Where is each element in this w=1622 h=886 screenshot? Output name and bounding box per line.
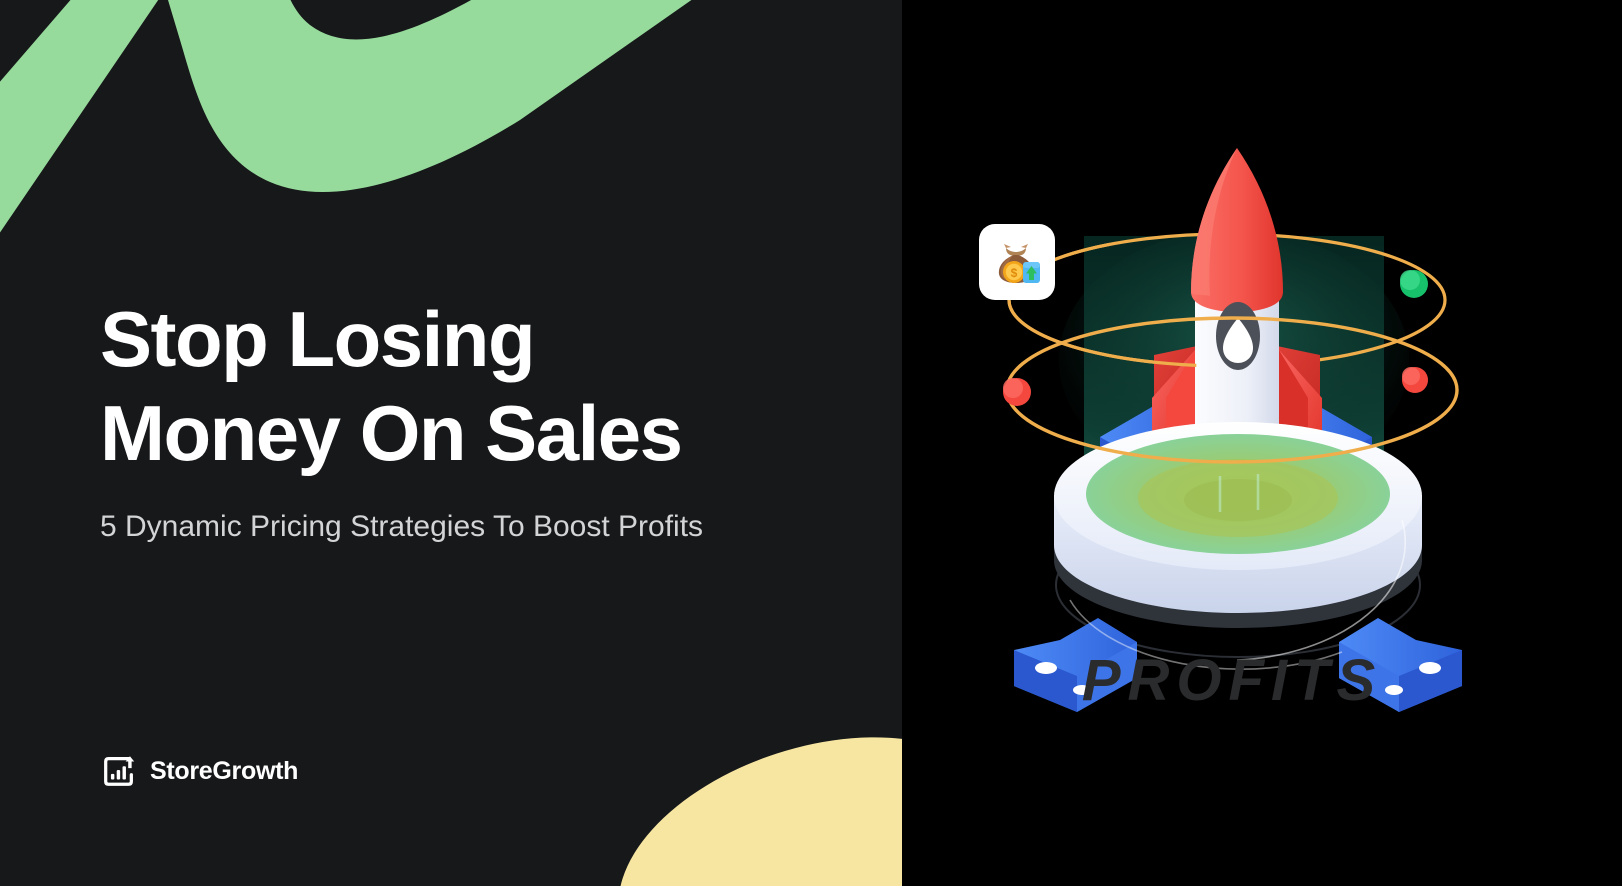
isometric-rocket-illustration: PROFITS xyxy=(902,0,1622,886)
svg-text:$: $ xyxy=(1011,266,1018,280)
rocket-scene-svg: PROFITS xyxy=(902,0,1622,886)
profits-caption: PROFITS xyxy=(1082,648,1382,713)
headline-line-2: Money On Sales xyxy=(100,389,682,477)
green-swoosh-shape xyxy=(0,0,780,310)
headline-line-1: Stop Losing xyxy=(100,295,534,383)
right-illustration-panel: PROFITS xyxy=(902,0,1622,886)
page-title: Stop LosingMoney On Sales xyxy=(100,292,860,480)
bar-chart-growth-icon xyxy=(100,752,138,790)
page-subtitle: 5 Dynamic Pricing Strategies To Boost Pr… xyxy=(100,506,703,548)
brand-name: StoreGrowth xyxy=(150,757,298,786)
yellow-ellipse-shape xyxy=(586,692,902,886)
money-bag-growth-icon: $ xyxy=(990,235,1044,289)
money-bag-badge-card[interactable]: $ xyxy=(979,224,1055,300)
brand-logo[interactable]: StoreGrowth xyxy=(100,752,298,790)
banner-canvas: Stop LosingMoney On Sales 5 Dynamic Pric… xyxy=(0,0,1622,886)
left-content-panel: Stop LosingMoney On Sales 5 Dynamic Pric… xyxy=(0,0,902,886)
landing-platform xyxy=(1054,422,1422,657)
